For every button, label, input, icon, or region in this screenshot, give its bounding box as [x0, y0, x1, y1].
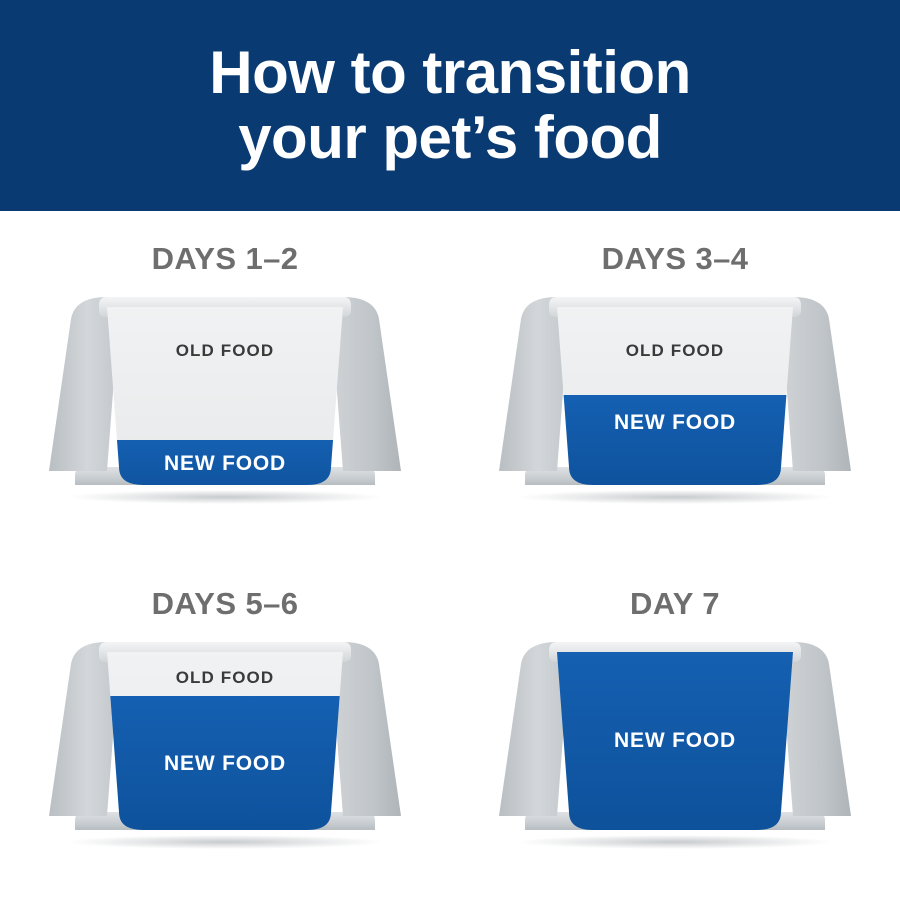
step-card-days-3-4: DAYS 3–4 OLD FOOD NEW FOOD [450, 211, 900, 556]
page-title-line-2: your pet’s food [209, 106, 690, 170]
bowl-graphic [45, 289, 405, 504]
transition-steps-grid: DAYS 1–2 [0, 211, 900, 900]
header-banner: How to transition your pet’s food [0, 0, 900, 211]
step-card-day-7: DAY 7 NEW FOOD [450, 556, 900, 900]
food-bowl-illustration: OLD FOOD NEW FOOD [495, 289, 855, 504]
bowl-graphic [495, 634, 855, 849]
step-card-days-1-2: DAYS 1–2 [0, 211, 450, 556]
food-bowl-illustration: OLD FOOD NEW FOOD [45, 634, 405, 849]
step-label: DAYS 5–6 [0, 586, 450, 622]
food-bowl-illustration: NEW FOOD [495, 634, 855, 849]
step-label: DAY 7 [450, 586, 900, 622]
bowl-graphic [495, 289, 855, 504]
step-label: DAYS 1–2 [0, 241, 450, 277]
step-label: DAYS 3–4 [450, 241, 900, 277]
step-card-days-5-6: DAYS 5–6 OLD FOOD NEW FOOD [0, 556, 450, 900]
food-bowl-illustration: OLD FOOD NEW FOOD [45, 289, 405, 504]
bowl-graphic [45, 634, 405, 849]
page-title: How to transition your pet’s food [189, 41, 710, 169]
page-title-line-1: How to transition [209, 41, 690, 105]
